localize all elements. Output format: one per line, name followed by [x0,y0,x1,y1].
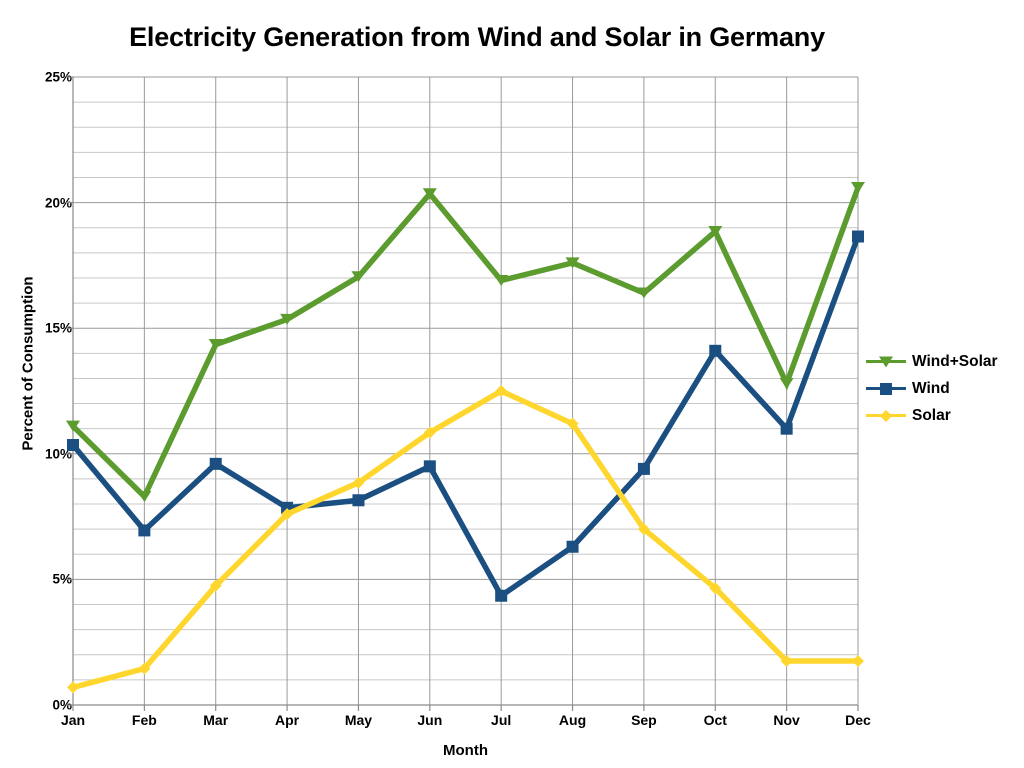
data-point-marker [880,383,892,395]
legend-item-wind-plus-solar[interactable]: Wind+Solar [866,348,998,375]
legend-label: Wind+Solar [912,353,998,371]
data-point-marker [138,524,150,536]
data-point-marker [137,491,151,502]
chart-legend: Wind+SolarWindSolar [866,348,998,429]
legend-swatch-icon [866,354,906,370]
legend-swatch-icon [866,408,906,424]
legend-label: Wind [912,380,950,398]
data-point-marker [709,345,721,357]
series-line [73,188,858,497]
legend-item-solar[interactable]: Solar [866,402,998,429]
data-point-marker [852,231,864,243]
chart-container: Electricity Generation from Wind and Sol… [0,0,1024,768]
data-point-marker [67,681,79,693]
legend-swatch-icon [866,381,906,397]
data-point-marker [424,460,436,472]
data-point-marker [638,463,650,475]
series-line [73,391,858,687]
data-point-marker [781,423,793,435]
legend-item-wind[interactable]: Wind [866,375,998,402]
series-solar [67,385,864,693]
data-point-marker [852,655,864,667]
data-point-marker [67,439,79,451]
data-point-marker [210,458,222,470]
series-layer [66,182,865,693]
data-point-marker [780,378,794,389]
data-point-marker [879,356,893,367]
data-point-marker [851,182,865,193]
data-point-marker [567,541,579,553]
data-point-marker [495,590,507,602]
data-point-marker [880,410,892,422]
data-point-marker [352,494,364,506]
legend-label: Solar [912,407,951,425]
series-wind [67,231,864,602]
